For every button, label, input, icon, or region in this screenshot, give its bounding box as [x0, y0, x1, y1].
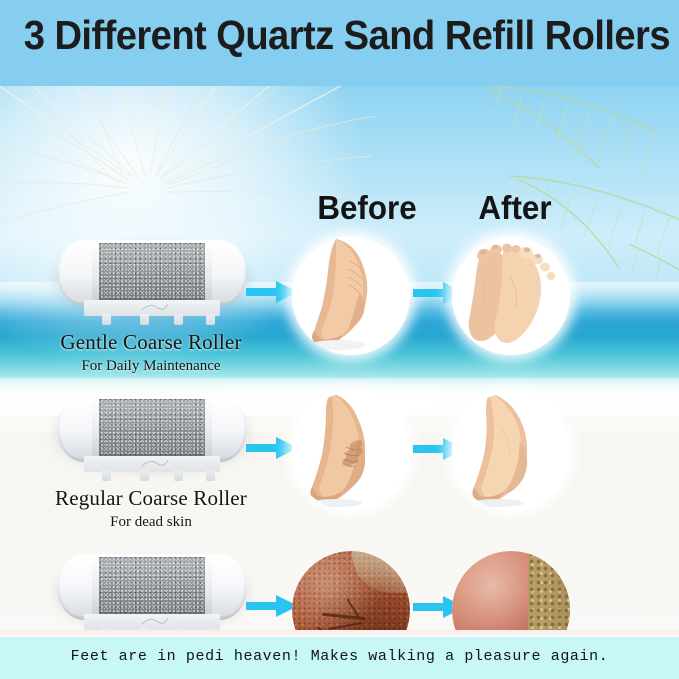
after-photo-regular — [452, 393, 570, 511]
flaky-heel-illustration — [292, 393, 410, 511]
remaining-callus-edge — [528, 551, 570, 637]
arrow-right-icon — [246, 435, 298, 461]
dry-heel-illustration — [292, 237, 410, 355]
roller-ring — [205, 397, 212, 458]
roller-foot — [206, 470, 215, 481]
footer-band: Feet are in pedi heaven! Makes walking a… — [0, 637, 679, 679]
product-row-gentle: Gentle Coarse Roller For Daily Maintenan… — [0, 230, 679, 390]
roller-foot — [102, 470, 111, 481]
column-heading-after: After — [459, 189, 571, 227]
footer-edge — [0, 630, 679, 637]
roller-brand-mark-icon — [140, 614, 170, 628]
arrow-right-icon — [246, 279, 298, 305]
roller-foot — [140, 314, 149, 325]
beach-scene-background: Before After Gentle Coarse — [0, 86, 679, 637]
roller-image-gentle — [48, 236, 256, 328]
roller-brand-mark-icon — [140, 456, 170, 470]
roller-image-regular — [48, 392, 256, 484]
before-photo-regular — [292, 393, 410, 511]
roller-foot — [140, 470, 149, 481]
roller-name-regular: Regular Coarse Roller — [6, 486, 296, 511]
product-row-regular: Regular Coarse Roller For dead skin — [0, 386, 679, 546]
roller-ring — [205, 555, 212, 616]
roller-brand-mark-icon — [140, 300, 170, 314]
roller-abrasive-drum — [96, 243, 208, 300]
roller-abrasive-drum — [96, 557, 208, 614]
roller-subtitle-regular: For dead skin — [6, 514, 296, 531]
roller-ring — [92, 241, 99, 302]
roller-ring — [92, 555, 99, 616]
after-photo-gentle — [452, 237, 570, 355]
smooth-soles-illustration — [452, 237, 570, 355]
after-photo-extra — [452, 551, 570, 637]
roller-foot — [206, 314, 215, 325]
product-row-extra: Extra Coarse Roller For Tough & Hard Cal… — [0, 544, 679, 637]
roller-foot — [102, 314, 111, 325]
smooth-heel-illustration — [452, 393, 570, 511]
arrow-right-icon — [246, 593, 298, 619]
roller-ring — [205, 241, 212, 302]
before-photo-extra — [292, 551, 410, 637]
roller-subtitle-gentle: For Daily Maintenance — [6, 358, 296, 375]
before-photo-gentle — [292, 237, 410, 355]
roller-foot — [174, 314, 183, 325]
footer-caption: Feet are in pedi heaven! Makes walking a… — [0, 648, 679, 665]
roller-ring — [92, 397, 99, 458]
product-infographic: 3 Different Quartz Sand Refill Rollers — [0, 0, 679, 679]
roller-image-extra — [48, 550, 256, 637]
roller-foot — [174, 470, 183, 481]
column-heading-before: Before — [311, 189, 423, 227]
header-band: 3 Different Quartz Sand Refill Rollers — [0, 0, 679, 86]
roller-abrasive-drum — [96, 399, 208, 456]
page-title: 3 Different Quartz Sand Refill Rollers — [24, 12, 655, 59]
roller-name-gentle: Gentle Coarse Roller — [6, 330, 296, 355]
